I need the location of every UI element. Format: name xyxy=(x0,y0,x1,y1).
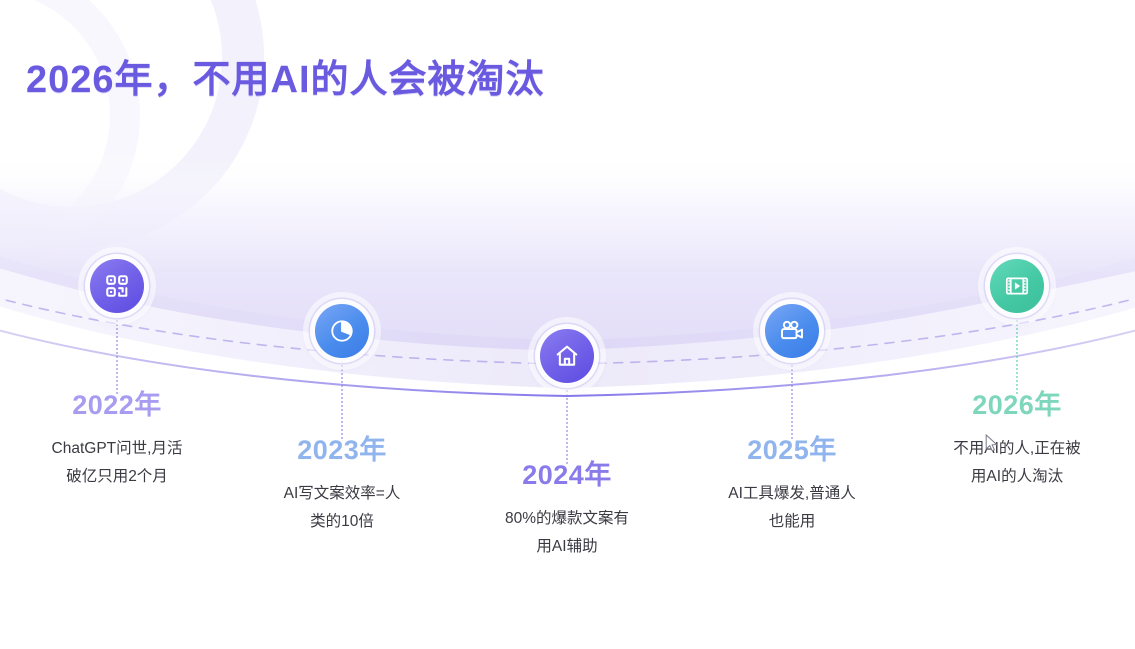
node-year-2025: 2025年 xyxy=(672,436,912,466)
node-icon-badge-2026[interactable] xyxy=(990,259,1044,313)
node-icon-badge-2025[interactable] xyxy=(765,304,819,358)
node-caption-2022: ChatGPT问世,月活 破亿只用2个月 xyxy=(0,435,237,492)
node-icon-badge-2024[interactable] xyxy=(540,329,594,383)
node-icon-badge-2022[interactable] xyxy=(90,259,144,313)
node-connector-line xyxy=(116,316,118,394)
node-connector-line xyxy=(791,361,793,439)
node-label-block-2023: 2023年 AI写文案效率=人 类的10倍 xyxy=(222,436,462,537)
film-play-icon xyxy=(1004,273,1030,299)
node-caption-2026: 不用AI的人,正在被 用AI的人淘汰 xyxy=(897,435,1135,492)
node-connector-line xyxy=(341,361,343,439)
node-connector-line xyxy=(1016,316,1018,394)
home-icon xyxy=(554,343,580,369)
node-year-2022: 2022年 xyxy=(0,391,237,421)
node-year-2023: 2023年 xyxy=(222,436,462,466)
video-camera-icon xyxy=(779,318,805,344)
corner-arc-decoration xyxy=(0,0,264,249)
node-caption-2024: 80%的爆款文案有 用AI辅助 xyxy=(447,505,687,562)
node-year-2026: 2026年 xyxy=(897,391,1135,421)
node-caption-2023: AI写文案效率=人 类的10倍 xyxy=(222,480,462,537)
node-label-block-2024: 2024年 80%的爆款文案有 用AI辅助 xyxy=(447,461,687,562)
pie-chart-icon xyxy=(329,318,355,344)
node-caption-2025: AI工具爆发,普通人 也能用 xyxy=(672,480,912,537)
qr-code-icon xyxy=(104,273,130,299)
slide-canvas: 2026年，不用AI的人会被淘汰 xyxy=(0,0,1135,649)
node-label-block-2026: 2026年 不用AI的人,正在被 用AI的人淘汰 xyxy=(897,391,1135,492)
node-label-block-2025: 2025年 AI工具爆发,普通人 也能用 xyxy=(672,436,912,537)
node-connector-line xyxy=(566,386,568,464)
node-icon-badge-2023[interactable] xyxy=(315,304,369,358)
node-label-block-2022: 2022年 ChatGPT问世,月活 破亿只用2个月 xyxy=(0,391,237,492)
page-title: 2026年，不用AI的人会被淘汰 xyxy=(26,48,545,103)
corner-arc-decoration-2 xyxy=(0,0,140,270)
node-year-2024: 2024年 xyxy=(447,461,687,491)
